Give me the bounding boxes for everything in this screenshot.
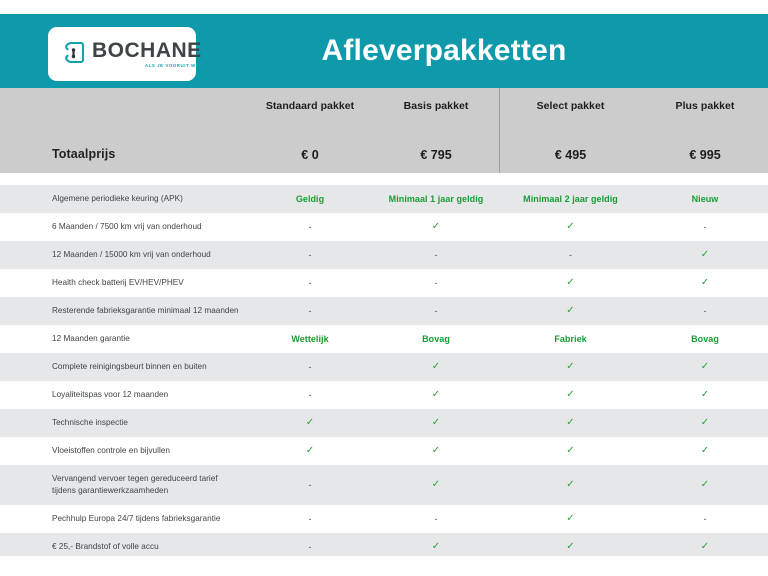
table-top-spacer [0, 173, 768, 185]
feature-value-cell: ✓ [247, 446, 373, 456]
feature-value-cell: ✓ [642, 362, 768, 372]
package-name-standaard: Standaard pakket [247, 100, 373, 112]
feature-label: Vloeistoffen controle en bijvullen [0, 445, 247, 457]
feature-value-cell: - [642, 515, 768, 524]
feature-value-cell: - [247, 481, 373, 490]
feature-value-cell: ✓ [642, 250, 768, 260]
feature-value-cell: ✓ [642, 418, 768, 428]
package-price-select: € 495 [499, 148, 642, 162]
table-row: Vloeistoffen controle en bijvullen✓✓✓✓ [0, 437, 768, 465]
feature-value-cell: - [499, 251, 642, 260]
feature-value-cell: - [247, 543, 373, 552]
feature-label: Complete reinigingsbeurt binnen en buite… [0, 361, 247, 373]
feature-value-cell: ✓ [499, 362, 642, 372]
total-price-label-cell: Totaalprijs [0, 88, 247, 173]
table-row: 6 Maanden / 7500 km vrij van onderhoud-✓… [0, 213, 768, 241]
package-name-basis: Basis pakket [373, 100, 499, 112]
feature-value-cell: ✓ [642, 542, 768, 552]
table-row: Vervangend vervoer tegen gereduceerd tar… [0, 465, 768, 505]
feature-value-cell: ✓ [499, 514, 642, 524]
afleverpakketten-sheet: Afleverpakketten BOCHANE ALS JE VOORUIT … [0, 0, 768, 576]
brand-name: BOCHANE [92, 40, 202, 61]
feature-value-cell: - [247, 251, 373, 260]
feature-value-cell: ✓ [499, 446, 642, 456]
feature-label: € 25,- Brandstof of volle accu [0, 541, 247, 553]
feature-value-cell: - [247, 515, 373, 524]
feature-value-cell: ✓ [499, 480, 642, 490]
feature-value-cell: ✓ [373, 418, 499, 428]
table-row: Loyaliteitspas voor 12 maanden-✓✓✓ [0, 381, 768, 409]
feature-value-cell: ✓ [373, 480, 499, 490]
package-col-basis: Basis pakket € 795 [373, 88, 499, 173]
table-row: 12 Maanden garantieWettelijkBovagFabriek… [0, 325, 768, 353]
price-header-block: Totaalprijs Standaard pakket € 0 Basis p… [0, 88, 768, 173]
feature-value-cell: ✓ [373, 390, 499, 400]
table-row: Complete reinigingsbeurt binnen en buite… [0, 353, 768, 381]
feature-value-cell: ✓ [373, 362, 499, 372]
feature-label: Resterende fabrieksgarantie minimaal 12 … [0, 305, 247, 317]
brand-tagline: ALS JE VOORUIT WIL [145, 64, 201, 68]
feature-label: Pechhulp Europa 24/7 tijdens fabrieksgar… [0, 513, 247, 525]
feature-label: 12 Maanden garantie [0, 333, 247, 345]
feature-label: Loyaliteitspas voor 12 maanden [0, 389, 247, 401]
table-row: Health check batterij EV/HEV/PHEV--✓✓ [0, 269, 768, 297]
feature-value-cell: ✓ [373, 446, 499, 456]
feature-value-cell: - [247, 363, 373, 372]
table-row: 12 Maanden / 15000 km vrij van onderhoud… [0, 241, 768, 269]
brand-wordmark: BOCHANE ALS JE VOORUIT WIL [92, 40, 202, 68]
package-name-plus: Plus pakket [642, 100, 768, 112]
feature-value-cell: ✓ [499, 390, 642, 400]
feature-value-cell: Fabriek [499, 334, 642, 344]
package-col-standaard: Standaard pakket € 0 [247, 88, 373, 173]
feature-value-cell: - [373, 307, 499, 316]
feature-value-cell: ✓ [499, 222, 642, 232]
feature-value-cell: ✓ [642, 446, 768, 456]
feature-value-cell: ✓ [247, 418, 373, 428]
feature-value-cell: ✓ [373, 542, 499, 552]
feature-value-cell: ✓ [499, 306, 642, 316]
feature-value-cell: ✓ [499, 418, 642, 428]
feature-value-cell: ✓ [499, 542, 642, 552]
feature-value-cell: Bovag [373, 334, 499, 344]
feature-label: Health check batterij EV/HEV/PHEV [0, 277, 247, 289]
package-col-select: Select pakket € 495 [499, 88, 642, 173]
table-row: Technische inspectie✓✓✓✓ [0, 409, 768, 437]
feature-label: 12 Maanden / 15000 km vrij van onderhoud [0, 249, 247, 261]
feature-value-cell: Minimaal 1 jaar geldig [373, 194, 499, 204]
feature-value-cell: Minimaal 2 jaar geldig [499, 194, 642, 204]
feature-label: Technische inspectie [0, 417, 247, 429]
feature-value-cell: ✓ [373, 222, 499, 232]
feature-value-cell: - [642, 307, 768, 316]
feature-value-cell: - [373, 251, 499, 260]
feature-value-cell: Bovag [642, 334, 768, 344]
bochane-mark-icon [61, 39, 87, 69]
brand-logo: BOCHANE ALS JE VOORUIT WIL [48, 27, 196, 81]
table-row: Algemene periodieke keuring (APK)GeldigM… [0, 185, 768, 213]
table-row: Resterende fabrieksgarantie minimaal 12 … [0, 297, 768, 325]
feature-value-cell: ✓ [642, 480, 768, 490]
feature-value-cell: - [373, 279, 499, 288]
feature-value-cell: - [247, 279, 373, 288]
package-comparison-table: Algemene periodieke keuring (APK)GeldigM… [0, 173, 768, 573]
feature-value-cell: Wettelijk [247, 334, 373, 344]
package-price-plus: € 995 [642, 148, 768, 162]
feature-label: Algemene periodieke keuring (APK) [0, 193, 247, 205]
package-name-select: Select pakket [499, 100, 642, 112]
feature-value-cell: ✓ [499, 278, 642, 288]
feature-value-cell: - [247, 223, 373, 232]
feature-value-cell: Nieuw [642, 194, 768, 204]
feature-value-cell: Geldig [247, 194, 373, 204]
sheet-footer [0, 556, 768, 576]
package-price-standaard: € 0 [247, 148, 373, 162]
total-price-label: Totaalprijs [52, 147, 115, 161]
feature-value-cell: ✓ [642, 390, 768, 400]
package-col-plus: Plus pakket € 995 [642, 88, 768, 173]
feature-value-cell: - [642, 223, 768, 232]
feature-value-cell: ✓ [642, 278, 768, 288]
feature-label: Vervangend vervoer tegen gereduceerd tar… [0, 473, 247, 497]
package-price-basis: € 795 [373, 148, 499, 162]
table-row: Pechhulp Europa 24/7 tijdens fabrieksgar… [0, 505, 768, 533]
feature-label: 6 Maanden / 7500 km vrij van onderhoud [0, 221, 247, 233]
feature-value-cell: - [373, 515, 499, 524]
feature-value-cell: - [247, 307, 373, 316]
feature-value-cell: - [247, 391, 373, 400]
